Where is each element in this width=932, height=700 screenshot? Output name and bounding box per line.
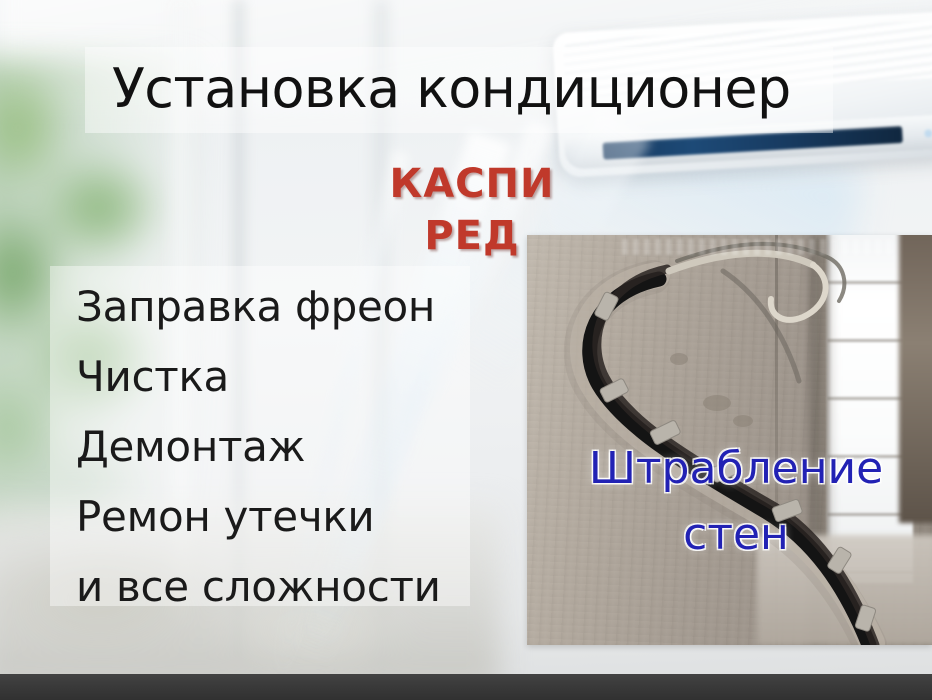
caption-line-2: стен [540, 502, 932, 568]
list-item: Ремон утечки [76, 482, 506, 552]
list-item: Заправка фреон [76, 272, 506, 342]
photo-caption: Штрабление стен [540, 436, 932, 568]
caption-line-1: Штрабление [540, 436, 932, 502]
brand-line-kaspi: КАСПИ [372, 158, 572, 210]
list-item: Чистка [76, 342, 506, 412]
page-title: Установка кондиционер [112, 56, 872, 122]
list-item: и все сложности [76, 552, 506, 622]
photo-watermark [622, 239, 892, 255]
list-item: Демонтаж [76, 412, 506, 482]
advertisement-poster: Установка кондиционер КАСПИ РЕД Заправка… [0, 0, 932, 700]
services-list: Заправка фреон Чистка Демонтаж Ремон уте… [76, 272, 506, 622]
ac-led-icon [924, 129, 932, 137]
bottom-bar [0, 674, 932, 700]
